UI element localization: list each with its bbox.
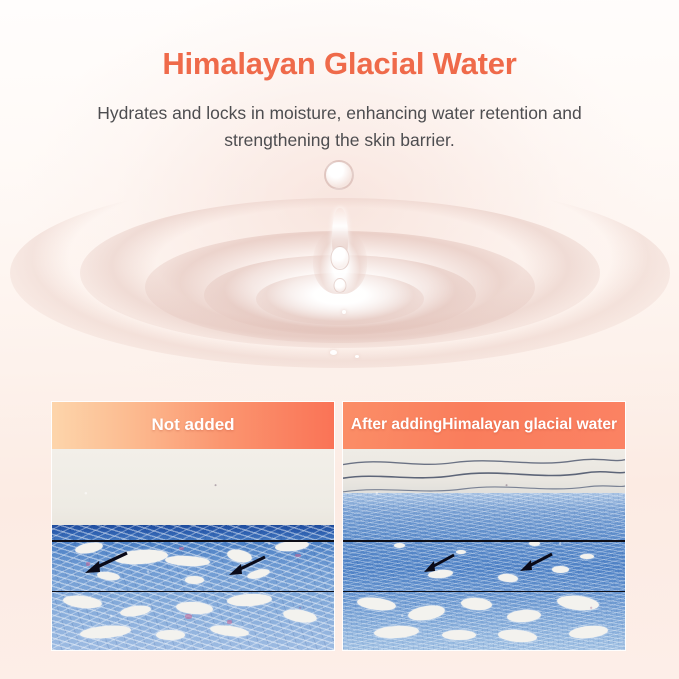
histology-image-not-added — [52, 449, 334, 650]
dermis-thickness-arrow-left-2 — [227, 554, 267, 578]
collagen-gap — [456, 550, 466, 554]
measure-line-upper-left — [52, 540, 334, 542]
collagen-gap — [442, 630, 476, 640]
measure-line-upper-right — [343, 540, 625, 542]
histology-image-after-adding — [343, 449, 625, 650]
panel-header-after-adding: After adding Himalayan glacial water — [343, 402, 625, 449]
dermis-thickness-arrow-right-1 — [422, 552, 456, 574]
collagen-gap — [156, 630, 184, 640]
panel-after-adding: After adding Himalayan glacial water — [343, 402, 625, 650]
panel-header-line1: After adding — [351, 416, 442, 434]
collagen-gap — [185, 576, 205, 584]
water-droplet-small — [333, 278, 346, 293]
collagen-gap — [552, 566, 569, 573]
stain-fleck — [227, 620, 232, 624]
panel-header-line2: Himalayan glacial water — [442, 416, 617, 434]
panel-not-added: Not added — [52, 402, 334, 650]
measure-line-lower-left — [52, 591, 334, 593]
water-droplet-mid — [330, 246, 349, 270]
water-droplet-falling — [324, 160, 354, 190]
comparison-section: Not added — [52, 402, 625, 650]
measure-line-lower-right — [343, 591, 625, 593]
water-speck-3 — [342, 310, 346, 314]
epidermis-layer-left — [52, 449, 334, 531]
dermis-thickness-arrow-right-2 — [518, 550, 554, 574]
infographic-root: Himalayan Glacial Water Hydrates and loc… — [0, 0, 679, 679]
panel-header-not-added: Not added — [52, 402, 334, 449]
collagen-gap — [580, 554, 594, 560]
dermis-thickness-arrow-left-1 — [83, 550, 129, 576]
stain-fleck — [185, 614, 192, 619]
page-title: Himalayan Glacial Water — [0, 46, 679, 82]
water-speck-2 — [355, 355, 359, 358]
water-speck-1 — [330, 350, 337, 355]
stain-fleck — [295, 554, 301, 557]
stratum-corneum-lines — [343, 449, 625, 509]
page-subtitle: Hydrates and locks in moisture, enhancin… — [70, 100, 609, 153]
